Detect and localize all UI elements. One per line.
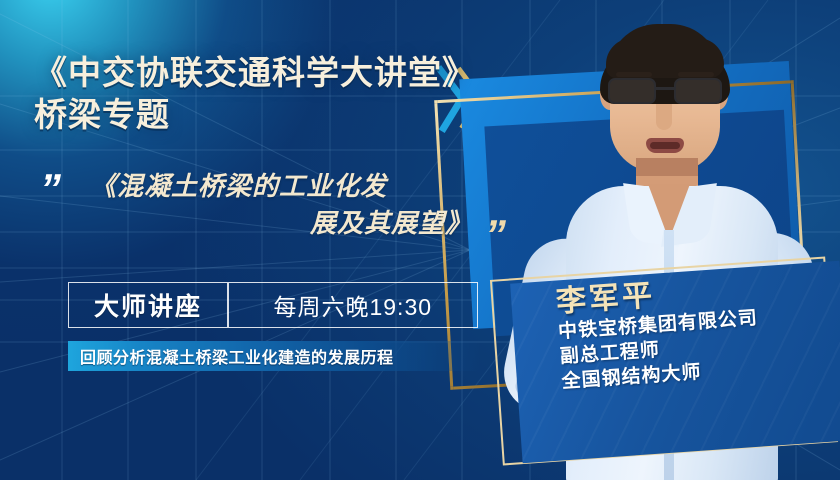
lecture-type-label: 大师讲座 bbox=[69, 287, 227, 323]
lecture-title-line-2: 展及其展望》 bbox=[90, 205, 478, 242]
lecture-summary-text: 回顾分析混凝土桥梁工业化建造的发展历程 bbox=[68, 344, 394, 368]
poster-canvas: 《中交协联交通科学大讲堂》 桥梁专题 ” 《混凝土桥梁的工业化发 展及其展望》 … bbox=[0, 0, 840, 480]
headline-line-1: 《中交协联交通科学大讲堂》 bbox=[34, 54, 476, 91]
lecture-title-quote: ” 《混凝土桥梁的工业化发 展及其展望》 ” bbox=[38, 166, 518, 266]
poster-headline: 《中交协联交通科学大讲堂》 桥梁专题 bbox=[34, 52, 504, 136]
eyeglasses-icon bbox=[606, 78, 726, 104]
lecture-summary-ribbon: 回顾分析混凝土桥梁工业化建造的发展历程 bbox=[68, 341, 480, 371]
speaker-credentials: 李军平 中铁宝桥集团有限公司 副总工程师 全国钢结构大师 bbox=[524, 250, 840, 397]
lecture-title-text: 《混凝土桥梁的工业化发 展及其展望》 bbox=[90, 168, 478, 242]
lecture-info-box: 大师讲座 每周六晚19:30 bbox=[68, 282, 478, 328]
lecture-title-line-1: 《混凝土桥梁的工业化发 bbox=[90, 168, 478, 205]
headline-line-2: 桥梁专题 bbox=[34, 94, 504, 136]
quote-close-mark-icon: ” bbox=[485, 214, 502, 256]
quote-open-mark-icon: ” bbox=[40, 168, 57, 210]
lecture-schedule-label: 每周六晚19:30 bbox=[229, 288, 478, 322]
